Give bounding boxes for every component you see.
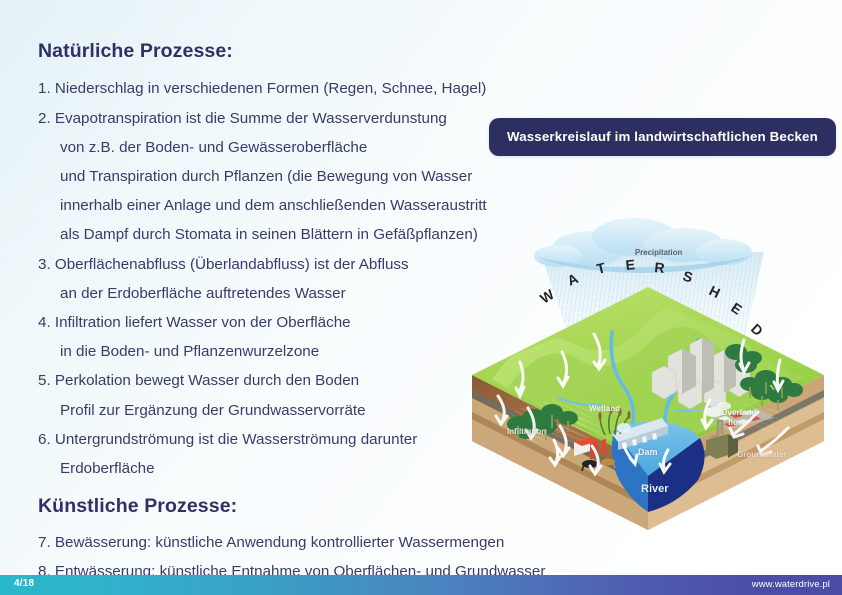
- website-link[interactable]: www.waterdrive.pl: [752, 579, 830, 590]
- watershed-illustration: W A T E R S H E D Precipitation Wetland …: [462, 212, 834, 552]
- arc-letter: D: [748, 320, 766, 339]
- section-heading-natural: Natürliche Prozesse:: [38, 40, 598, 63]
- page-number: 4/18: [14, 578, 34, 589]
- land-block: [472, 287, 824, 530]
- arc-letter: R: [654, 259, 666, 276]
- footer-bar: 4/18 www.waterdrive.pl: [0, 575, 842, 595]
- arc-letter: E: [625, 256, 636, 273]
- diagram-title-badge: Wasserkreislauf im landwirtschaftlichen …: [489, 118, 836, 156]
- watershed-svg: W A T E R S H E D: [462, 212, 834, 552]
- list-item: und Transpiration durch Pflanzen (die Be…: [38, 162, 598, 191]
- list-item: 1. Niederschlag in verschiedenen Formen …: [38, 74, 598, 103]
- slide-canvas: Natürliche Prozesse: 1. Niederschlag in …: [0, 0, 842, 595]
